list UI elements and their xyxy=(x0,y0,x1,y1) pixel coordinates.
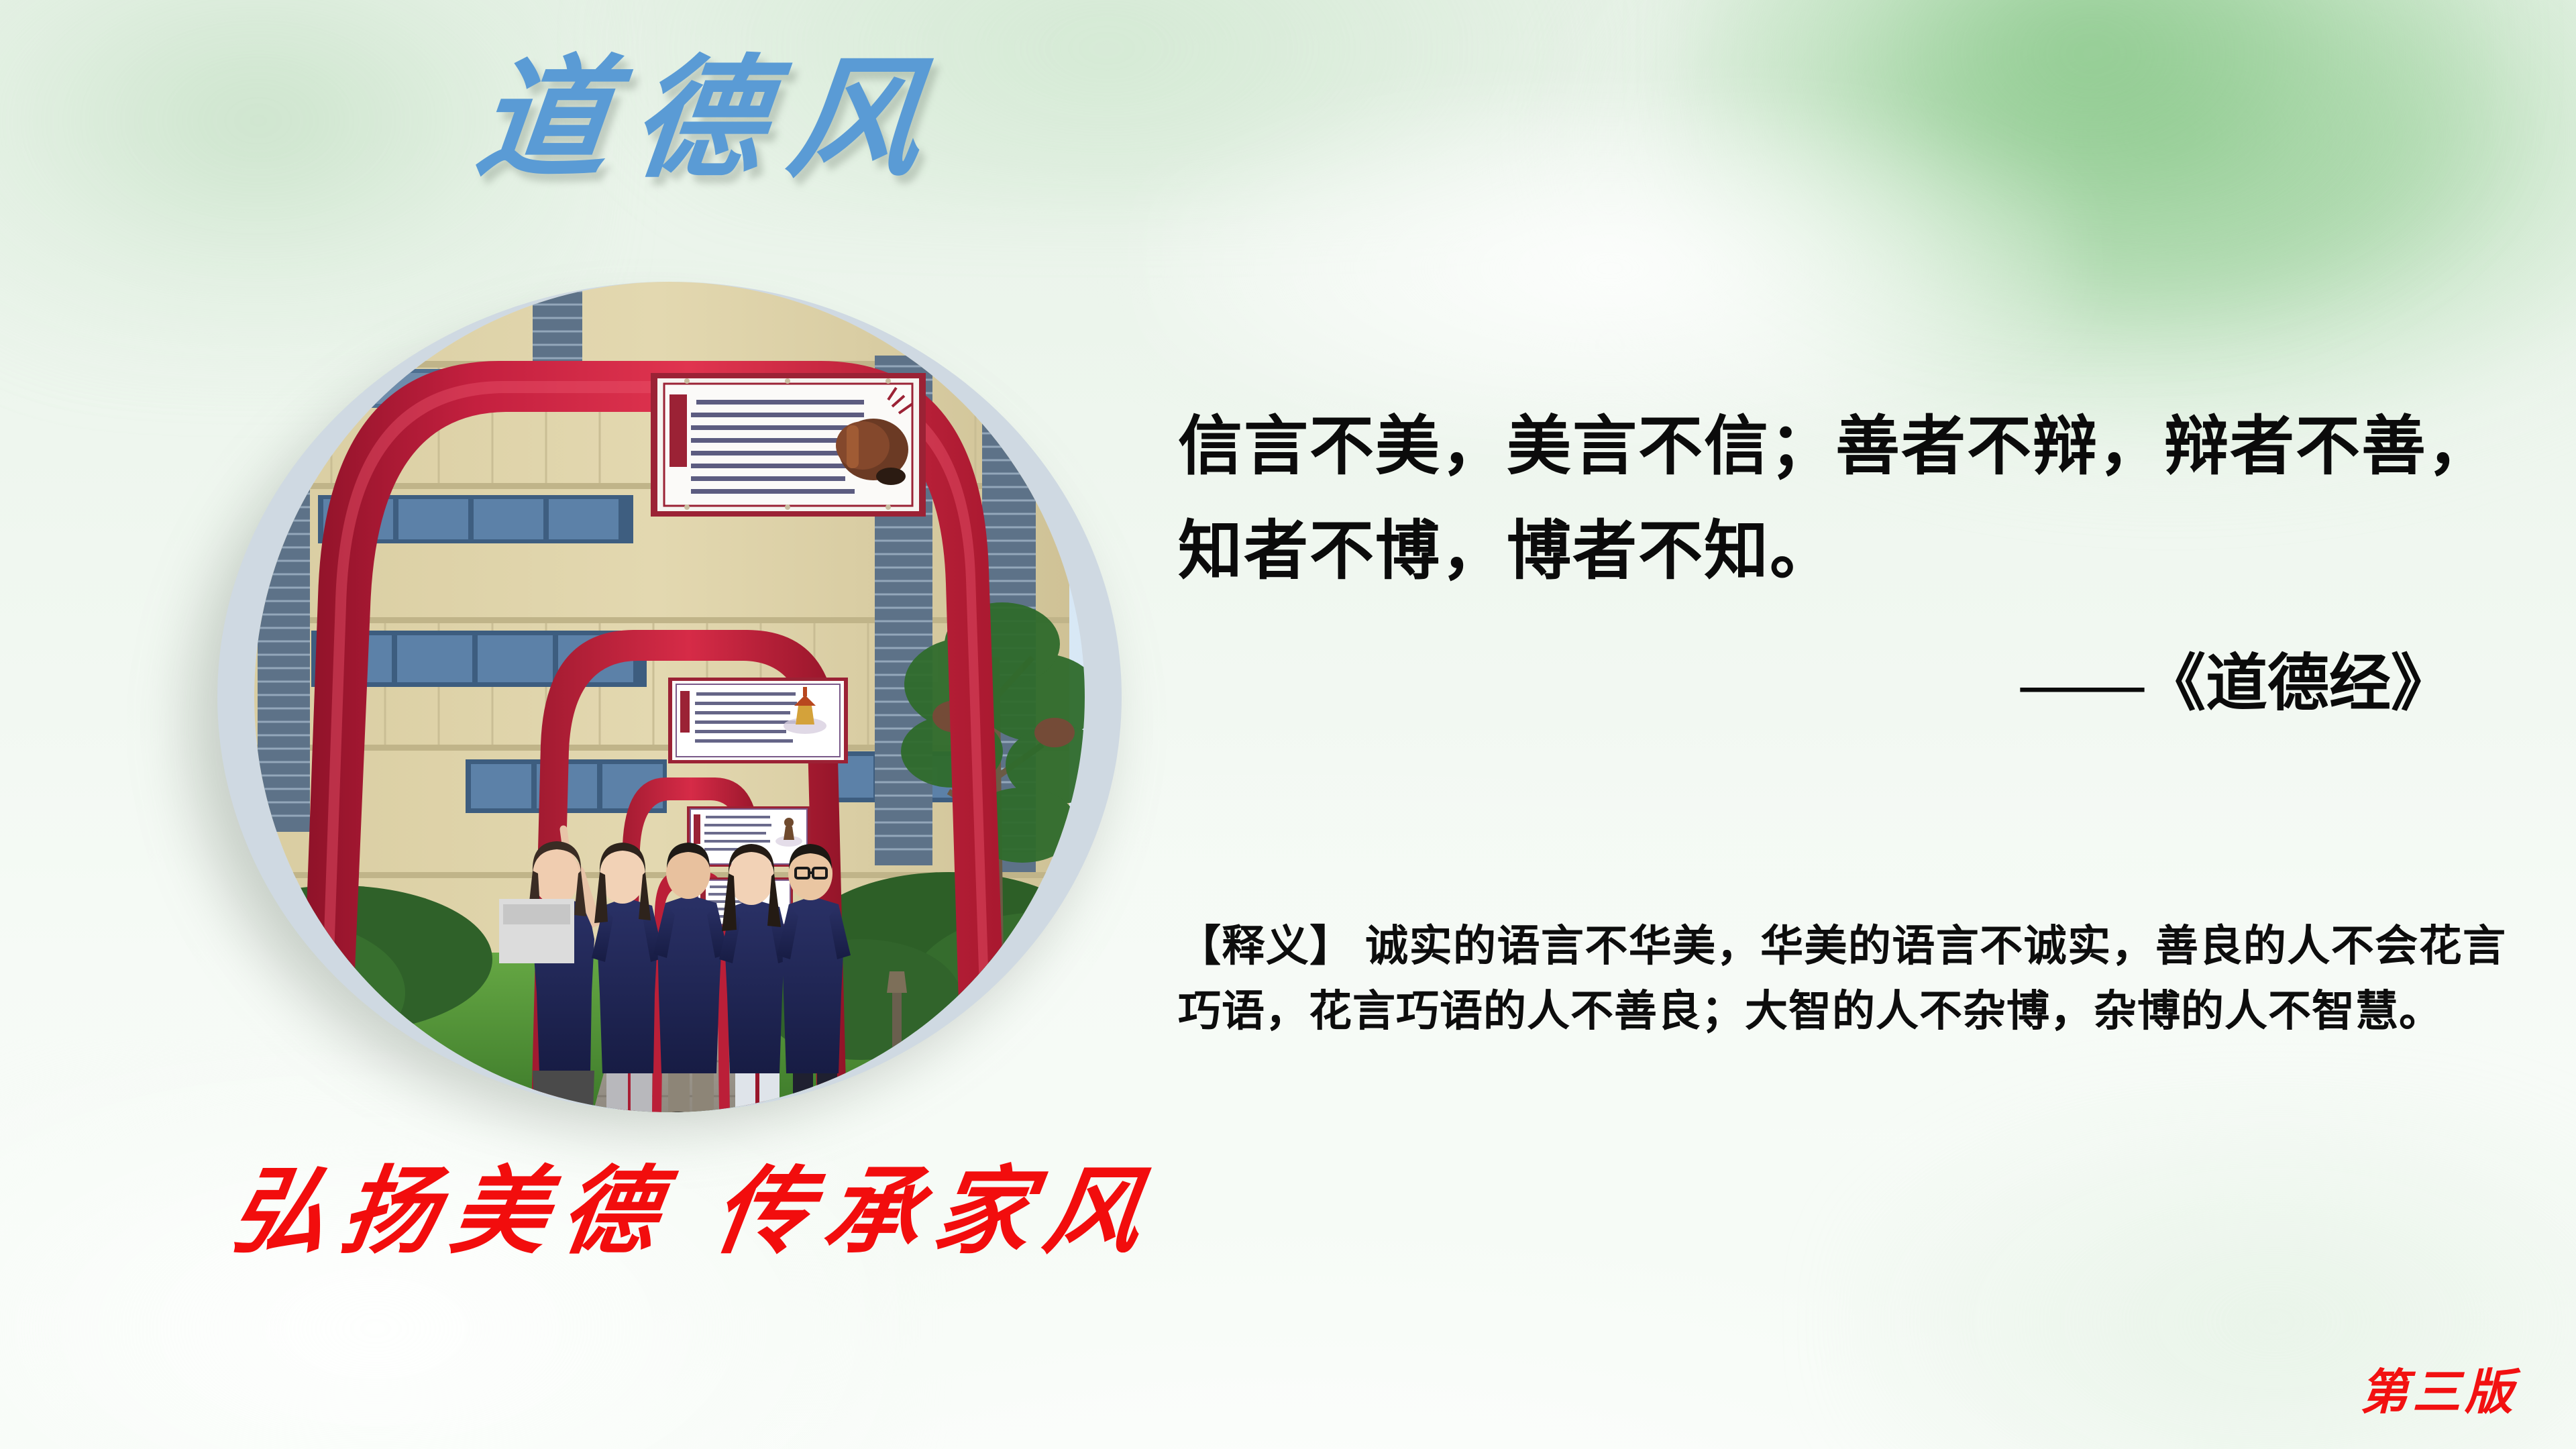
page-title: 道德风 xyxy=(471,55,952,186)
slogan-right: 传承家风 xyxy=(708,1159,1163,1265)
explanation-text: 【释义】 诚实的语言不华美，华美的语言不诚实，善良的人不会花言巧语，花言巧语的人… xyxy=(1178,914,2506,1044)
slogan: 弘扬美德传承家风 xyxy=(225,1165,1162,1260)
circular-photo xyxy=(217,282,1122,1112)
display-board-medium xyxy=(668,678,848,763)
quote-text: 信言不美，美言不信；善者不辩，辩者不善，知者不博，博者不知。 xyxy=(1178,394,2506,603)
slogan-left: 弘扬美德 xyxy=(225,1159,680,1265)
photo-illustration xyxy=(217,282,1122,1112)
people-group xyxy=(526,829,851,1112)
newsletter-page: 道德风 xyxy=(0,0,2576,1449)
display-board-large xyxy=(651,373,926,517)
photo-figure xyxy=(177,282,1116,1114)
page-marker: 第三版 xyxy=(2360,1368,2517,1417)
background-cloud xyxy=(1140,94,2080,443)
quote-attribution: ——《道德经》 xyxy=(1178,644,2522,724)
